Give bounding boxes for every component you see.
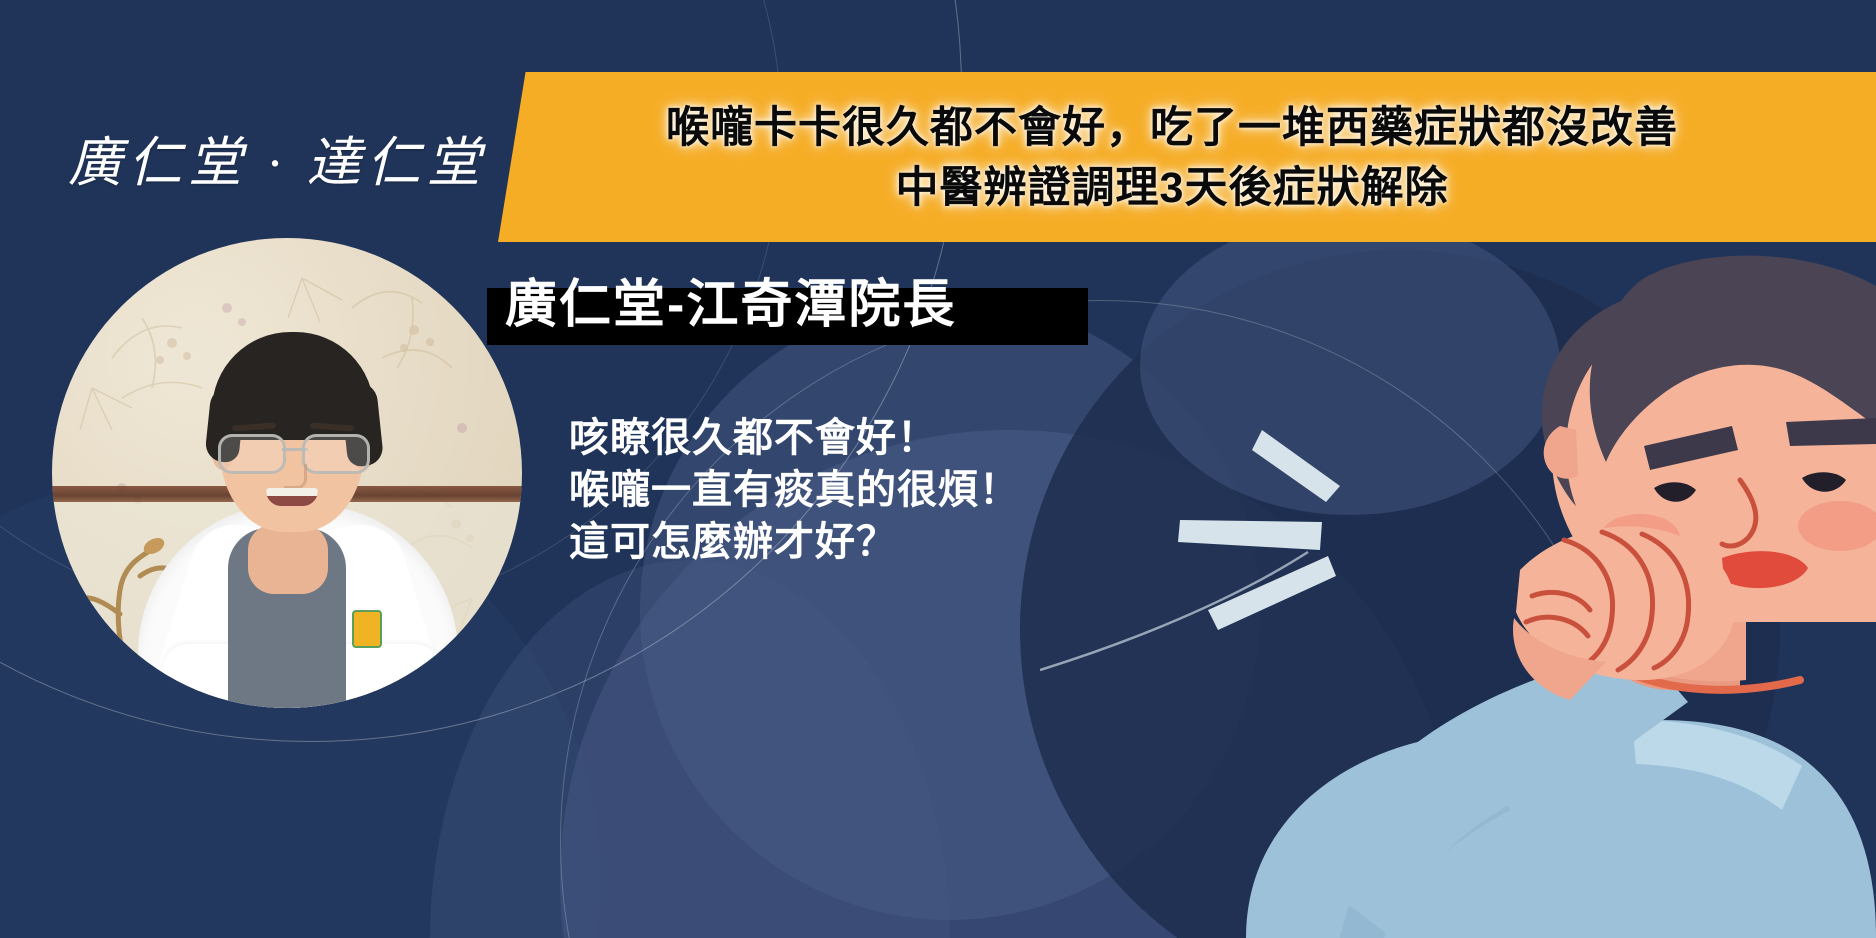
doctor-photo xyxy=(52,238,522,708)
doctor-smile xyxy=(266,488,318,506)
cough-motion-arc xyxy=(1040,552,1308,670)
body-line-3: 這可怎麼辦才好？ xyxy=(569,516,1020,568)
headline-line-1: 喉嚨卡卡很久都不會好，吃了一堆西藥症狀都沒改善 xyxy=(498,98,1846,158)
poster-canvas: 廣仁堂 · 達仁堂 xyxy=(0,0,1876,938)
headline-text: 喉嚨卡卡很久都不會好，吃了一堆西藥症狀都沒改善 中醫辨證調理3天後症狀解除 xyxy=(498,98,1846,218)
page-title: 廣仁堂-江奇潭院長 xyxy=(505,274,956,336)
headline-line-2: 中醫辨證調理3天後症狀解除 xyxy=(498,158,1846,218)
brand-logo: 廣仁堂 · 達仁堂 xyxy=(68,118,487,197)
headline-banner: 喉嚨卡卡很久都不會好，吃了一堆西藥症狀都沒改善 中醫辨證調理3天後症狀解除 xyxy=(498,72,1876,242)
body-copy: 咳瞭很久都不會好！ 喉嚨一直有痰真的很煩！ 這可怎麼辦才好？ xyxy=(569,412,1020,568)
body-line-1: 咳瞭很久都不會好！ xyxy=(569,412,1020,464)
coughing-man-illustration xyxy=(1040,250,1876,938)
doctor-nose xyxy=(284,464,307,489)
cough-burst-lines xyxy=(1178,430,1340,630)
man-eyebrow-right xyxy=(1786,418,1876,446)
body-line-2: 喉嚨一直有痰真的很煩！ xyxy=(569,464,1020,516)
doctor-id-badge xyxy=(352,610,382,648)
doctor-neck xyxy=(248,524,328,594)
